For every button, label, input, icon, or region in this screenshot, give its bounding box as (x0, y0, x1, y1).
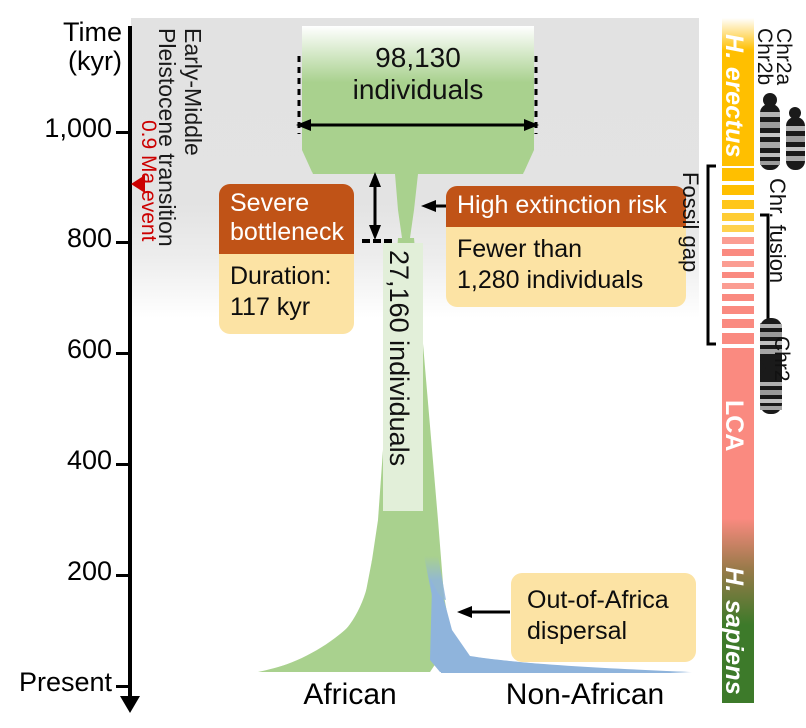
bottleneck-duration-value: 117 kyr (230, 292, 343, 323)
ancestral-size-unit: individuals (318, 74, 518, 106)
population-history-figure: Time (kyr) 1,000800600400200Present Earl… (0, 0, 806, 728)
ooa-line2: dispersal (527, 616, 682, 647)
chr2b-text: Chr2b (752, 28, 776, 85)
h-sapiens-text: H. sapiens (719, 567, 748, 695)
h-erectus-text: H. erectus (719, 34, 748, 158)
extinction-body-line2: 1,280 individuals (457, 265, 675, 296)
chr2-label: Chr2 (769, 336, 793, 382)
species-label-h-sapiens: H. sapiens (719, 567, 748, 695)
ancestral-population-label: 98,130 individuals (318, 42, 518, 107)
lca-text: LCA (719, 400, 748, 451)
callout-severe-bottleneck-header: Severe bottleneck (219, 184, 354, 254)
chr-fusion-text: Chr. fusion (764, 178, 790, 283)
chr2-text: Chr2 (769, 336, 793, 382)
fossil-gap-stripes (722, 168, 754, 344)
african-population-label: African (255, 678, 445, 712)
fossil-gap-label: Fossil gap (677, 172, 703, 272)
callout-severe-bottleneck[interactable]: Severe bottleneck Duration: 117 kyr (219, 184, 354, 334)
bottleneck-duration-label: Duration: (230, 261, 343, 292)
bottleneck-population-label: 27,160 individuals (383, 250, 414, 466)
species-label-lca: LCA (719, 400, 748, 451)
species-label-h-erectus: H. erectus (719, 34, 748, 158)
extinction-body-line1: Fewer than (457, 234, 675, 265)
ancestral-size-value: 98,130 (318, 42, 518, 74)
callout-extinction-header: High extinction risk (446, 186, 686, 227)
callout-out-of-africa[interactable]: Out-of-Africa dispersal (511, 573, 696, 662)
callout-extinction-body: Fewer than 1,280 individuals (446, 227, 686, 307)
fossil-gap-text: Fossil gap (677, 172, 703, 272)
chr-fusion-label: Chr. fusion (764, 178, 790, 283)
callout-severe-bottleneck-body: Duration: 117 kyr (219, 254, 354, 334)
chr2b-label: Chr2b (752, 28, 776, 85)
ooa-line1: Out-of-Africa (527, 585, 682, 616)
nonafrican-population-label: Non-African (455, 678, 715, 712)
callout-ooa-body: Out-of-Africa dispersal (511, 573, 696, 662)
callout-high-extinction-risk[interactable]: High extinction risk Fewer than 1,280 in… (446, 186, 686, 307)
bottleneck-size-text: 27,160 individuals (383, 250, 414, 466)
chr2b-ideogram (786, 107, 805, 170)
chr2a-ideogram (760, 93, 780, 170)
